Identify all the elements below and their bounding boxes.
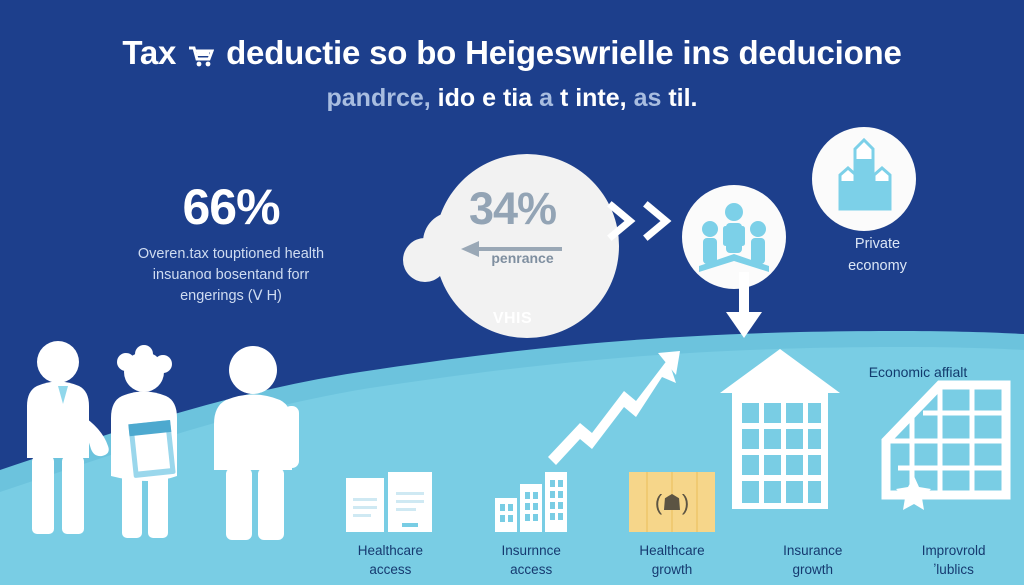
shopping-cart-icon: [188, 37, 214, 76]
private-economy-label-line-1: Private: [790, 234, 965, 256]
bar-chart-bottles-icon: [808, 123, 920, 240]
subtitle-seg-6: til.: [668, 84, 697, 112]
bottom-label-line-2: growth: [783, 560, 842, 580]
buildings-bars-icon: [493, 454, 569, 532]
subtitle-seg-5: as: [634, 84, 662, 112]
title-line-secondary: pandrce, ido e tia a t inte, as til.: [0, 84, 1024, 114]
bottom-item-insurance-access: Insurnnce access: [461, 454, 602, 580]
economic-affairs-label: Economic affialt: [828, 364, 1008, 380]
bottom-label-line-1: Healthcare: [639, 541, 704, 561]
clipboard-icon: [128, 420, 175, 478]
bottom-label-line-2: growth: [639, 560, 704, 580]
people-silhouette-group: [18, 338, 308, 568]
bottom-item-healthcare-growth: (☗) Healthcare growth: [602, 454, 743, 580]
stat-caption-line-1: Overen.tax touptioned health: [96, 244, 366, 265]
bottom-label-line-1: Improvrold: [922, 541, 986, 561]
bottom-label-line-1: Insurance: [783, 541, 842, 561]
bottom-item-improved-public: Improvrold ʼlublics: [883, 454, 1024, 580]
page-title: Tax deductie so bo Heigeswrielle ins ded…: [0, 34, 1024, 113]
title-rest: deductie so bo Heigeswrielle ins deducio…: [226, 34, 902, 71]
infographic-canvas: Tax deductie so bo Heigeswrielle ins ded…: [0, 0, 1024, 585]
private-economy-label: Private economy: [790, 234, 965, 278]
bottom-item-insurance-growth: Insurance growth: [742, 454, 883, 580]
subtitle-seg-3: a: [539, 84, 553, 112]
bottom-item-healthcare-access: Healthcare access: [320, 454, 461, 580]
flow-chevrons: [606, 198, 678, 249]
bottom-label: Insurnnce access: [502, 541, 561, 580]
bottom-label: Improvrold ʼlublics: [922, 541, 986, 580]
vhis-label: VHIS: [395, 310, 630, 328]
yellow-card-icon: (☗): [627, 454, 717, 532]
title-line-primary: Tax deductie so bo Heigeswrielle ins ded…: [0, 34, 1024, 76]
bottom-label-line-1: Healthcare: [358, 541, 423, 561]
chevron-right-icon: [648, 206, 666, 236]
cloud-arrow-label: penrance: [405, 250, 640, 266]
title-word-tax: Tax: [122, 34, 176, 71]
stat-caption-line-2: insuanoɑ bosentand forr: [96, 265, 366, 286]
stat-block-left: 66% Overen.tax touptioned health insuano…: [96, 182, 366, 307]
arrow-down-icon: [722, 272, 766, 349]
subtitle-seg-2: ido e tia: [438, 84, 532, 112]
chevron-right-icon: [612, 206, 630, 236]
bottom-category-row: Healthcare access: [320, 430, 1024, 580]
bottom-label-line-1: Insurnnce: [502, 541, 561, 561]
bottom-label-line-2: ʼlublics: [922, 560, 986, 580]
bottom-label: Healthcare access: [358, 541, 423, 580]
doctor-figure: [27, 341, 109, 534]
bottom-label: Healthcare growth: [639, 541, 704, 580]
bottom-label: Insurance growth: [783, 541, 842, 580]
stat-value-66: 66%: [96, 182, 366, 232]
subtitle-seg-4: t inte,: [560, 84, 627, 112]
svg-text:(☗): (☗): [655, 490, 689, 515]
stat-caption-line-3: engerings (Ⅴ H): [96, 286, 366, 307]
stat-value-34: 34%: [395, 183, 630, 235]
stat-caption: Overen.tax touptioned health insuanoɑ bo…: [96, 244, 366, 307]
subtitle-seg-1: pandrce,: [327, 84, 431, 112]
private-economy-label-line-2: economy: [790, 256, 965, 278]
bottom-label-line-2: access: [502, 560, 561, 580]
patient-figure: [214, 346, 299, 540]
bottom-label-line-2: access: [358, 560, 423, 580]
documents-icon: [344, 454, 436, 532]
